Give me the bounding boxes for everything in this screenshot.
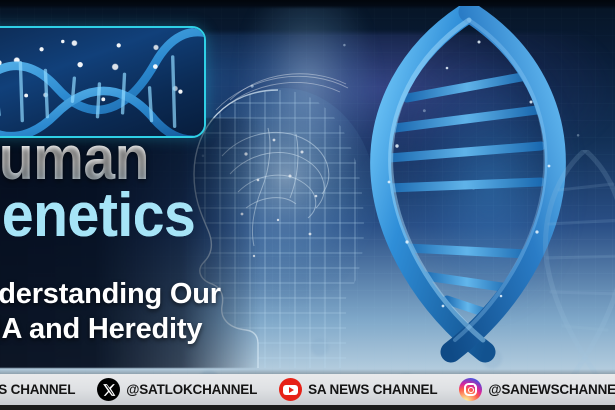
subtitle-line-1: Understanding Our (0, 277, 300, 312)
subtitle-block: Understanding Our DNA and Heredity (0, 277, 300, 348)
title-line-2: Genetics (0, 189, 262, 244)
bottom-black-strip (0, 405, 615, 410)
video-thumbnail: Human Genetics Understanding Our DNA and… (0, 0, 615, 410)
social-label: SA NEWS CHANNEL (308, 382, 437, 397)
social-item[interactable]: @SATLOKCHANNEL (91, 378, 263, 401)
dna-helix-secondary-graphic (515, 150, 615, 400)
social-label: @SANEWSCHANNEL (488, 382, 615, 397)
social-label: @SATLOKCHANNEL (126, 382, 257, 397)
subtitle-line-2: DNA and Heredity (0, 312, 300, 347)
social-item[interactable]: SA NEWS CHANNEL (0, 382, 81, 397)
social-item[interactable]: SA NEWS CHANNEL (273, 378, 443, 401)
x-twitter-icon[interactable] (97, 378, 120, 401)
headline-block: Human Genetics (0, 132, 288, 243)
social-bar-track: SA NEWS CHANNEL@SATLOKCHANNELSA NEWS CHA… (0, 378, 615, 401)
social-item[interactable]: @SANEWSCHANNEL (453, 378, 615, 401)
dna-inset-card (0, 26, 206, 138)
inset-dna-helix-icon (0, 28, 204, 136)
title-line-1: Human (0, 132, 262, 187)
social-media-bar: SA NEWS CHANNEL@SATLOKCHANNELSA NEWS CHA… (0, 374, 615, 405)
instagram-icon[interactable] (459, 378, 482, 401)
youtube-icon[interactable] (279, 378, 302, 401)
social-label: SA NEWS CHANNEL (0, 382, 75, 397)
